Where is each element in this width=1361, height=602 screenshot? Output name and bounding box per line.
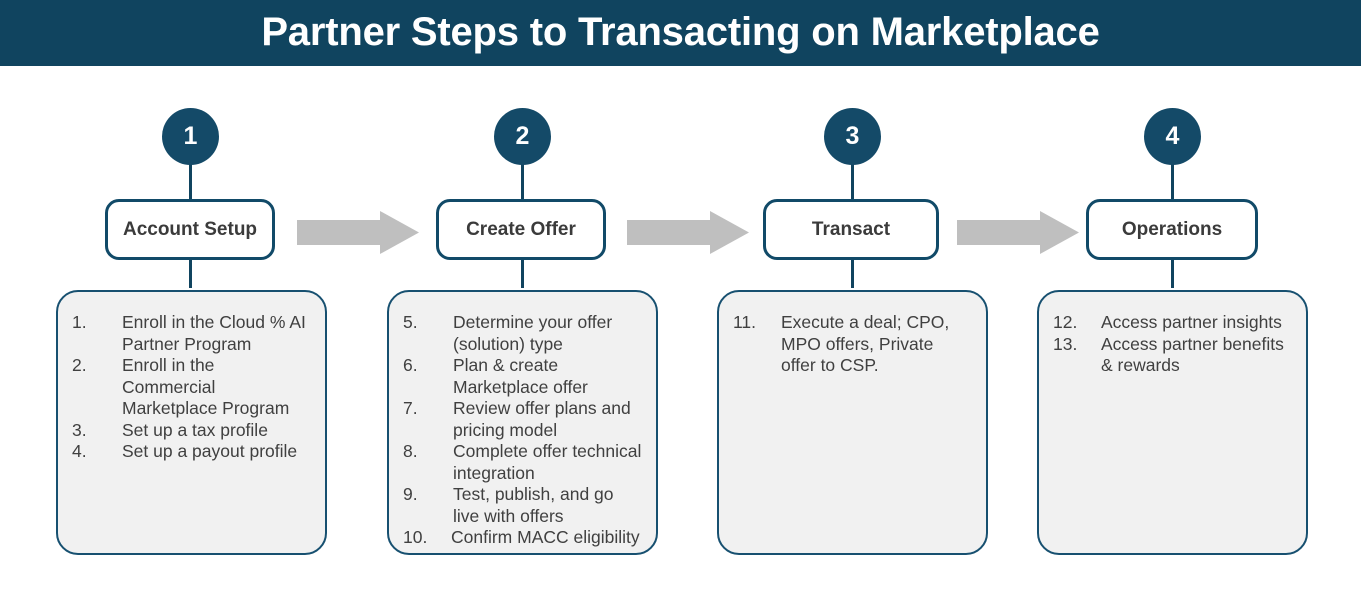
- step-number-badge-1: 1: [162, 108, 219, 165]
- step-label-text-4: Operations: [1122, 219, 1222, 241]
- step-label-box-3[interactable]: Transact: [763, 199, 939, 260]
- list-item: 3. Set up a tax profile: [72, 420, 311, 442]
- list-item-number: 5.: [403, 312, 445, 334]
- list-item: 1. Enroll in the Cloud % AI Partner Prog…: [72, 312, 311, 355]
- list-item-text: Review offer plans and pricing model: [453, 398, 631, 440]
- list-item: 11. Execute a deal; CPO, MPO offers, Pri…: [733, 312, 972, 377]
- list-item-number: 3.: [72, 420, 114, 442]
- step-column-1: 1 Account Setup 1. Enroll in the Cloud %…: [56, 66, 327, 602]
- step-label-box-1[interactable]: Account Setup: [105, 199, 275, 260]
- list-item: 13. Access partner benefits & rewards: [1053, 334, 1292, 377]
- connector-line-bottom-1: [189, 258, 192, 288]
- list-item-text: Determine your offer (solution) type: [453, 312, 612, 354]
- list-item-number: 7.: [403, 398, 445, 420]
- list-item: 4. Set up a payout profile: [72, 441, 311, 463]
- connector-line-bottom-4: [1171, 258, 1174, 288]
- list-item-text: Access partner insights: [1101, 312, 1282, 332]
- list-item-text: Access partner benefits & rewards: [1101, 334, 1284, 376]
- list-item-number: 11.: [733, 312, 773, 334]
- list-item-number: 8.: [403, 441, 445, 463]
- step-task-list-1: 1. Enroll in the Cloud % AI Partner Prog…: [72, 312, 311, 463]
- step-label-text-3: Transact: [812, 219, 890, 241]
- page-title: Partner Steps to Transacting on Marketpl…: [0, 0, 1361, 66]
- step-label-text-2: Create Offer: [466, 219, 576, 241]
- list-item: 9. Test, publish, and go live with offer…: [403, 484, 642, 527]
- list-item: 2. Enroll in the Commercial Marketplace …: [72, 355, 311, 420]
- list-item-number: 12.: [1053, 312, 1093, 334]
- step-label-box-4[interactable]: Operations: [1086, 199, 1258, 260]
- step-column-2: 2 Create Offer 5. Determine your offer (…: [387, 66, 658, 602]
- list-item-number: 2.: [72, 355, 114, 377]
- step-content-box-2: 5. Determine your offer (solution) type …: [387, 290, 658, 555]
- list-item: 10. Confirm MACC eligibility: [403, 527, 642, 549]
- list-item: 6. Plan & create Marketplace offer: [403, 355, 642, 398]
- list-item-number: 6.: [403, 355, 445, 377]
- list-item-number: 10.: [403, 527, 443, 549]
- step-content-box-4: 12. Access partner insights 13. Access p…: [1037, 290, 1308, 555]
- step-column-4: 4 Operations 12. Access partner insights…: [1037, 66, 1308, 602]
- list-item-text: Set up a tax profile: [122, 420, 268, 440]
- list-item-text: Test, publish, and go live with offers: [453, 484, 614, 526]
- list-item-number: 13.: [1053, 334, 1093, 356]
- connector-line-bottom-3: [851, 258, 854, 288]
- list-item-text: Enroll in the Commercial Marketplace Pro…: [122, 355, 289, 418]
- list-item-number: 1.: [72, 312, 114, 334]
- step-content-box-3: 11. Execute a deal; CPO, MPO offers, Pri…: [717, 290, 988, 555]
- step-task-list-4: 12. Access partner insights 13. Access p…: [1053, 312, 1292, 377]
- list-item-text: Enroll in the Cloud % AI Partner Program: [122, 312, 306, 354]
- step-number-badge-2: 2: [494, 108, 551, 165]
- step-task-list-2: 5. Determine your offer (solution) type …: [403, 312, 642, 549]
- step-content-box-1: 1. Enroll in the Cloud % AI Partner Prog…: [56, 290, 327, 555]
- step-number-badge-4: 4: [1144, 108, 1201, 165]
- step-number-badge-3: 3: [824, 108, 881, 165]
- list-item: 7. Review offer plans and pricing model: [403, 398, 642, 441]
- list-item-text: Plan & create Marketplace offer: [453, 355, 588, 397]
- list-item: 5. Determine your offer (solution) type: [403, 312, 642, 355]
- list-item: 8. Complete offer technical integration: [403, 441, 642, 484]
- list-item-text: Set up a payout profile: [122, 441, 297, 461]
- list-item-text: Complete offer technical integration: [453, 441, 641, 483]
- list-item-text: Execute a deal; CPO, MPO offers, Private…: [781, 312, 949, 375]
- step-column-3: 3 Transact 11. Execute a deal; CPO, MPO …: [717, 66, 988, 602]
- list-item: 12. Access partner insights: [1053, 312, 1292, 334]
- list-item-number: 4.: [72, 441, 114, 463]
- step-task-list-3: 11. Execute a deal; CPO, MPO offers, Pri…: [733, 312, 972, 377]
- connector-line-bottom-2: [521, 258, 524, 288]
- list-item-number: 9.: [403, 484, 445, 506]
- list-item-text: Confirm MACC eligibility: [451, 527, 640, 547]
- step-label-box-2[interactable]: Create Offer: [436, 199, 606, 260]
- step-label-text-1: Account Setup: [123, 219, 257, 241]
- process-flow-diagram: 1 Account Setup 1. Enroll in the Cloud %…: [0, 66, 1361, 602]
